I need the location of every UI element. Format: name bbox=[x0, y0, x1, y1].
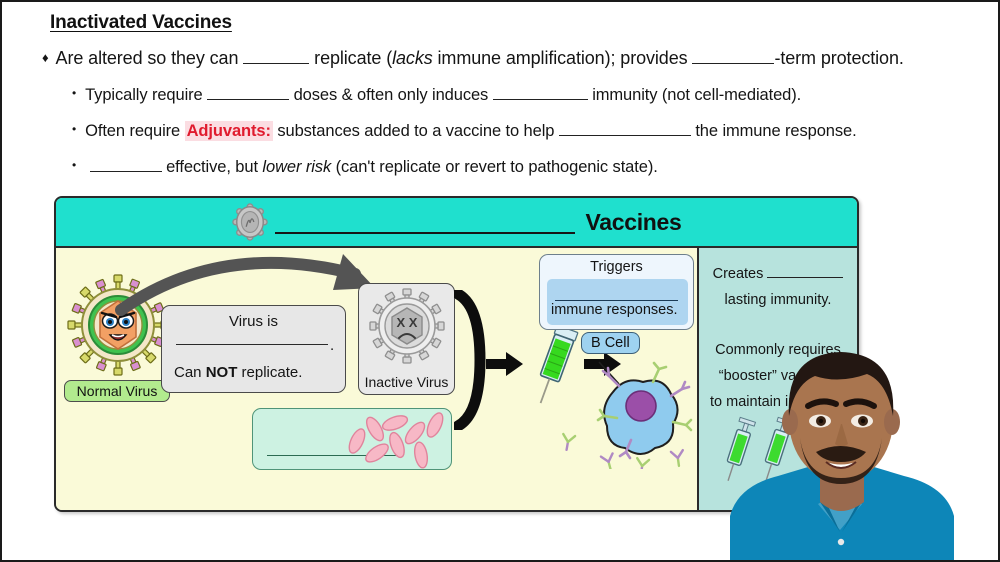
triggers-title: Triggers bbox=[540, 259, 693, 275]
virus-is-title: Virus is bbox=[162, 313, 345, 330]
right-panel-line-2: lasting immunity. bbox=[699, 292, 857, 308]
bullet-4-text-c: (can't replicate or revert to pathogenic… bbox=[336, 158, 658, 176]
header-fill-blank[interactable] bbox=[275, 210, 575, 234]
three-syringes-icon bbox=[711, 410, 841, 490]
inactive-virus-icon: X X bbox=[366, 288, 449, 368]
right-panel-line-3: Commonly requires bbox=[699, 342, 857, 358]
fill-blank-1a[interactable] bbox=[243, 63, 309, 64]
bullet-1-text-d: -term protection. bbox=[774, 48, 903, 68]
b-cell-icon bbox=[561, 344, 701, 469]
adjuvants-highlight: Adjuvants: bbox=[185, 121, 273, 141]
fill-blank-1b[interactable] bbox=[692, 63, 774, 64]
virus-particle-icon bbox=[231, 202, 269, 242]
fill-blank-2b[interactable] bbox=[493, 99, 588, 100]
bullet-3-text-c: the immune response. bbox=[695, 122, 856, 140]
triggers-line2: immune responses. bbox=[551, 302, 678, 318]
fill-blank-3a[interactable] bbox=[559, 135, 691, 136]
bullet-item-2: •Typically require doses & often only in… bbox=[72, 86, 801, 105]
right-panel-line-1: Creates bbox=[699, 266, 857, 282]
bullet-2-text-a: Typically require bbox=[85, 86, 203, 104]
bullet-3-text-a: Often require bbox=[85, 122, 180, 140]
bullet-1-text-a: Are altered so they can bbox=[56, 48, 239, 68]
right-panel-line-5: to maintain immunity. bbox=[699, 394, 857, 410]
fill-blank-4a[interactable] bbox=[90, 171, 162, 172]
virus-is-period: . bbox=[330, 337, 334, 354]
right-arrow-icon-1 bbox=[486, 351, 524, 377]
bacteria-cluster-icon bbox=[339, 411, 449, 469]
bullet-item-3: •Often require Adjuvants: substances add… bbox=[72, 122, 857, 141]
right-panel-line-4: “booster” vaccines bbox=[699, 368, 857, 384]
slide-canvas: Inactivated Vaccines ♦Are altered so the… bbox=[0, 0, 1000, 562]
vaccine-diagram-card: Vaccines Creates lasting immunity. Commo… bbox=[54, 196, 859, 512]
header-title-word: Vaccines bbox=[585, 209, 681, 236]
triggers-box: Triggers immune responses. bbox=[539, 254, 694, 330]
line2-bold-not: NOT bbox=[206, 364, 238, 381]
outline-text-region: Inactivated Vaccines ♦Are altered so the… bbox=[2, 2, 1000, 192]
diagram-header-banner: Vaccines bbox=[56, 198, 857, 248]
normal-virus-label: Normal Virus bbox=[64, 380, 170, 402]
triggers-fill-blank[interactable] bbox=[555, 300, 678, 301]
inactive-virus-label: Inactive Virus bbox=[359, 374, 454, 390]
bullet-1-text-c: immune amplification); provides bbox=[433, 48, 688, 68]
bullet-1-italic-lacks: lacks bbox=[392, 48, 433, 68]
dot-bullet-icon-2: • bbox=[72, 86, 76, 100]
diamond-bullet-icon: ♦ bbox=[42, 50, 49, 65]
right-line1-text: Creates bbox=[713, 266, 764, 282]
dot-bullet-icon-4: • bbox=[72, 158, 76, 172]
fill-blank-2a[interactable] bbox=[207, 99, 289, 100]
bacteria-mint-box bbox=[252, 408, 452, 470]
virus-is-box: Virus is . Can NOT replicate. bbox=[161, 305, 346, 393]
bullet-1-text-b: replicate ( bbox=[314, 48, 392, 68]
bullet-4-italic-lower-risk: lower risk bbox=[262, 158, 331, 176]
inactive-virus-box: X X Inactive Virus bbox=[358, 283, 455, 395]
right-info-panel: Creates lasting immunity. Commonly requi… bbox=[697, 248, 857, 510]
line2-post: replicate. bbox=[237, 364, 302, 381]
diagram-body: Creates lasting immunity. Commonly requi… bbox=[56, 248, 857, 510]
virus-is-line2: Can NOT replicate. bbox=[174, 364, 302, 381]
line2-pre: Can bbox=[174, 364, 206, 381]
virus-is-fill-blank[interactable] bbox=[176, 344, 328, 345]
right-fill-blank[interactable] bbox=[767, 277, 843, 278]
bullet-2-text-c: immunity (not cell-mediated). bbox=[592, 86, 801, 104]
page-title: Inactivated Vaccines bbox=[50, 12, 232, 34]
dot-bullet-icon-3: • bbox=[72, 122, 76, 136]
triggers-highlight-area: immune responses. bbox=[547, 279, 688, 325]
bullet-4-text-a: effective, but bbox=[166, 158, 258, 176]
bullet-item-4: • effective, but lower risk (can't repli… bbox=[72, 158, 658, 177]
bullet-2-text-b: doses & often only induces bbox=[294, 86, 489, 104]
svg-text:X X: X X bbox=[397, 315, 418, 330]
bullet-item-1: ♦Are altered so they can replicate (lack… bbox=[42, 48, 904, 69]
bullet-3-text-b: substances added to a vaccine to help bbox=[277, 122, 554, 140]
